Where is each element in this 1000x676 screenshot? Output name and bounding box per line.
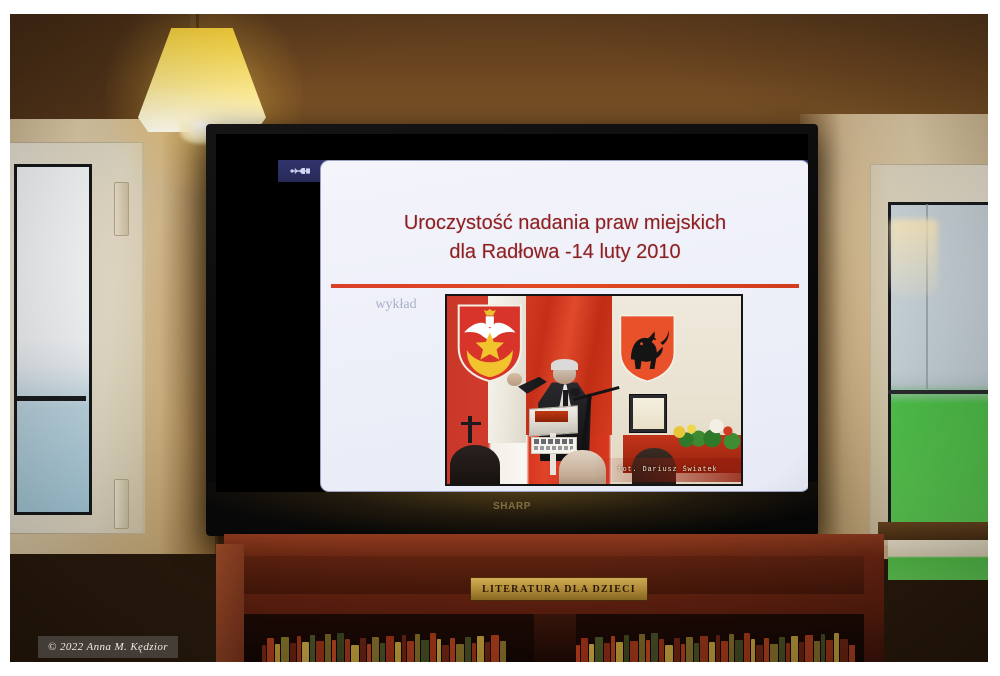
- book-spine: [402, 635, 406, 662]
- shelf-plaque: LITERATURA DLA DZIECI: [470, 577, 648, 601]
- book-spine: [360, 638, 366, 662]
- book-spine: [709, 642, 715, 662]
- book-row-right: [576, 632, 858, 662]
- slide-accent-rule: [331, 284, 799, 288]
- presentation-slide: Uroczystość nadania praw miejskich dla R…: [320, 160, 808, 492]
- book-spine: [290, 643, 296, 662]
- book-spine: [380, 643, 385, 662]
- book-spine: [604, 643, 610, 662]
- book-spine: [786, 643, 790, 662]
- book-spine: [589, 644, 594, 662]
- book-spine: [814, 641, 820, 662]
- radlow-coat-of-arms-icon: [618, 309, 677, 388]
- right-window-sill: [878, 522, 988, 540]
- book-spine: [395, 642, 401, 662]
- book-spine: [491, 635, 499, 662]
- framed-certificate-paper: [633, 398, 663, 429]
- book-spine: [821, 634, 825, 662]
- book-spine: [665, 645, 673, 662]
- audience-head-left: [450, 445, 500, 486]
- framed-certificate: [629, 394, 667, 433]
- slide-title-line-2: dla Radłowa -14 luty 2010: [321, 238, 808, 267]
- book-spine: [700, 636, 708, 662]
- book-spine: [367, 644, 371, 662]
- podium-document: [535, 411, 567, 422]
- book-spine: [770, 644, 778, 662]
- tv-screen: USB Uroczystość nadania praw miejskich d…: [216, 134, 808, 492]
- cross-horizontal: [461, 422, 482, 425]
- book-spine: [386, 636, 394, 662]
- podium-sign-line-1: [534, 439, 573, 444]
- book-spine: [267, 638, 274, 662]
- book-spine: [345, 639, 350, 662]
- book-spine: [421, 640, 429, 662]
- book-spine: [764, 638, 769, 662]
- book-spine: [686, 637, 693, 662]
- room-scene: SHARP USB Uroczystość nadania praw miejs…: [10, 14, 988, 662]
- book-spine: [581, 638, 588, 662]
- cabinet-left-post: [216, 544, 244, 662]
- book-spine: [576, 645, 580, 662]
- flower-bouquet-right: [700, 416, 741, 450]
- copyright-watermark-text: © 2022 Anna M. Kędzior: [48, 641, 168, 653]
- usb-icon-badge: [278, 160, 326, 182]
- book-spine: [756, 645, 763, 662]
- tarnow-county-coat-of-arms-icon: [456, 302, 524, 385]
- book-spine: [325, 634, 331, 662]
- book-spine: [595, 637, 603, 662]
- slide-title: Uroczystość nadania praw miejskich dla R…: [321, 209, 808, 267]
- shelf-divider: [534, 614, 576, 662]
- book-spine: [646, 640, 650, 662]
- tv-brand-logo: SHARP: [484, 501, 540, 513]
- right-window-mullion: [888, 390, 988, 394]
- book-spine: [302, 642, 309, 662]
- book-spine: [472, 643, 476, 662]
- book-spine: [297, 636, 301, 662]
- book-spine: [407, 641, 414, 662]
- book-spine: [791, 636, 798, 662]
- book-spine: [624, 635, 629, 662]
- right-window-lower-pane: [888, 540, 988, 580]
- book-spine: [310, 635, 315, 662]
- usb-icon: [290, 165, 314, 177]
- book-spine: [430, 633, 436, 662]
- book-spine: [372, 637, 379, 662]
- book-spine: [630, 641, 638, 662]
- book-spine: [716, 635, 720, 662]
- book-spine: [681, 644, 685, 662]
- slide-inner-photo: fot. Dariusz Światek: [445, 294, 743, 486]
- book-spine: [616, 642, 623, 662]
- book-spine: [316, 641, 324, 662]
- book-spine: [465, 637, 471, 662]
- book-spine: [651, 633, 658, 662]
- book-spine: [351, 645, 359, 662]
- book-spine: [729, 634, 734, 662]
- book-spine: [694, 643, 699, 662]
- left-window-glass: [14, 164, 92, 515]
- book-spine: [721, 641, 728, 662]
- book-spine: [337, 633, 344, 662]
- book-spine: [826, 640, 833, 662]
- book-spine: [485, 642, 490, 662]
- shelf-plaque-text: LITERATURA DLA DZIECI: [482, 584, 636, 595]
- book-spine: [281, 637, 289, 662]
- cross-vertical: [468, 416, 473, 442]
- book-spine: [849, 645, 855, 662]
- book-spine: [805, 635, 813, 662]
- slide-side-label: wykład: [351, 297, 441, 313]
- book-spine: [639, 634, 645, 662]
- book-row-left: [262, 632, 534, 662]
- book-spine: [840, 639, 848, 662]
- lamp-reflection: [890, 219, 938, 297]
- book-spine: [735, 640, 743, 662]
- book-spine: [744, 633, 750, 662]
- book-spine: [799, 642, 804, 662]
- book-spine: [659, 639, 664, 662]
- window-hinge-bottom: [114, 479, 129, 529]
- left-window-mullion: [14, 396, 86, 401]
- book-spine: [332, 640, 336, 662]
- photo-credit: fot. Dariusz Światek: [600, 461, 735, 478]
- book-spine: [415, 634, 420, 662]
- book-spine: [442, 645, 449, 662]
- microphone-head: [570, 388, 580, 396]
- book-spine: [450, 638, 455, 662]
- copyright-watermark: © 2022 Anna M. Kędzior: [38, 636, 178, 658]
- book-spine: [751, 639, 755, 662]
- photograph: SHARP USB Uroczystość nadania praw miejs…: [0, 0, 1000, 676]
- book-spine: [456, 644, 464, 662]
- book-spine: [262, 645, 266, 662]
- window-hinge-top: [114, 182, 129, 236]
- book-spine: [779, 637, 785, 662]
- speaker-hair: [551, 359, 578, 370]
- book-spine: [477, 636, 484, 662]
- slide-title-line-1: Uroczystość nadania praw miejskich: [321, 209, 808, 238]
- book-spine: [275, 644, 280, 662]
- book-spine: [500, 641, 506, 662]
- cabinet-top-edge: [224, 534, 884, 554]
- book-spine: [437, 639, 441, 662]
- book-spine: [674, 638, 680, 662]
- book-spine: [611, 636, 615, 662]
- book-spine: [834, 633, 839, 662]
